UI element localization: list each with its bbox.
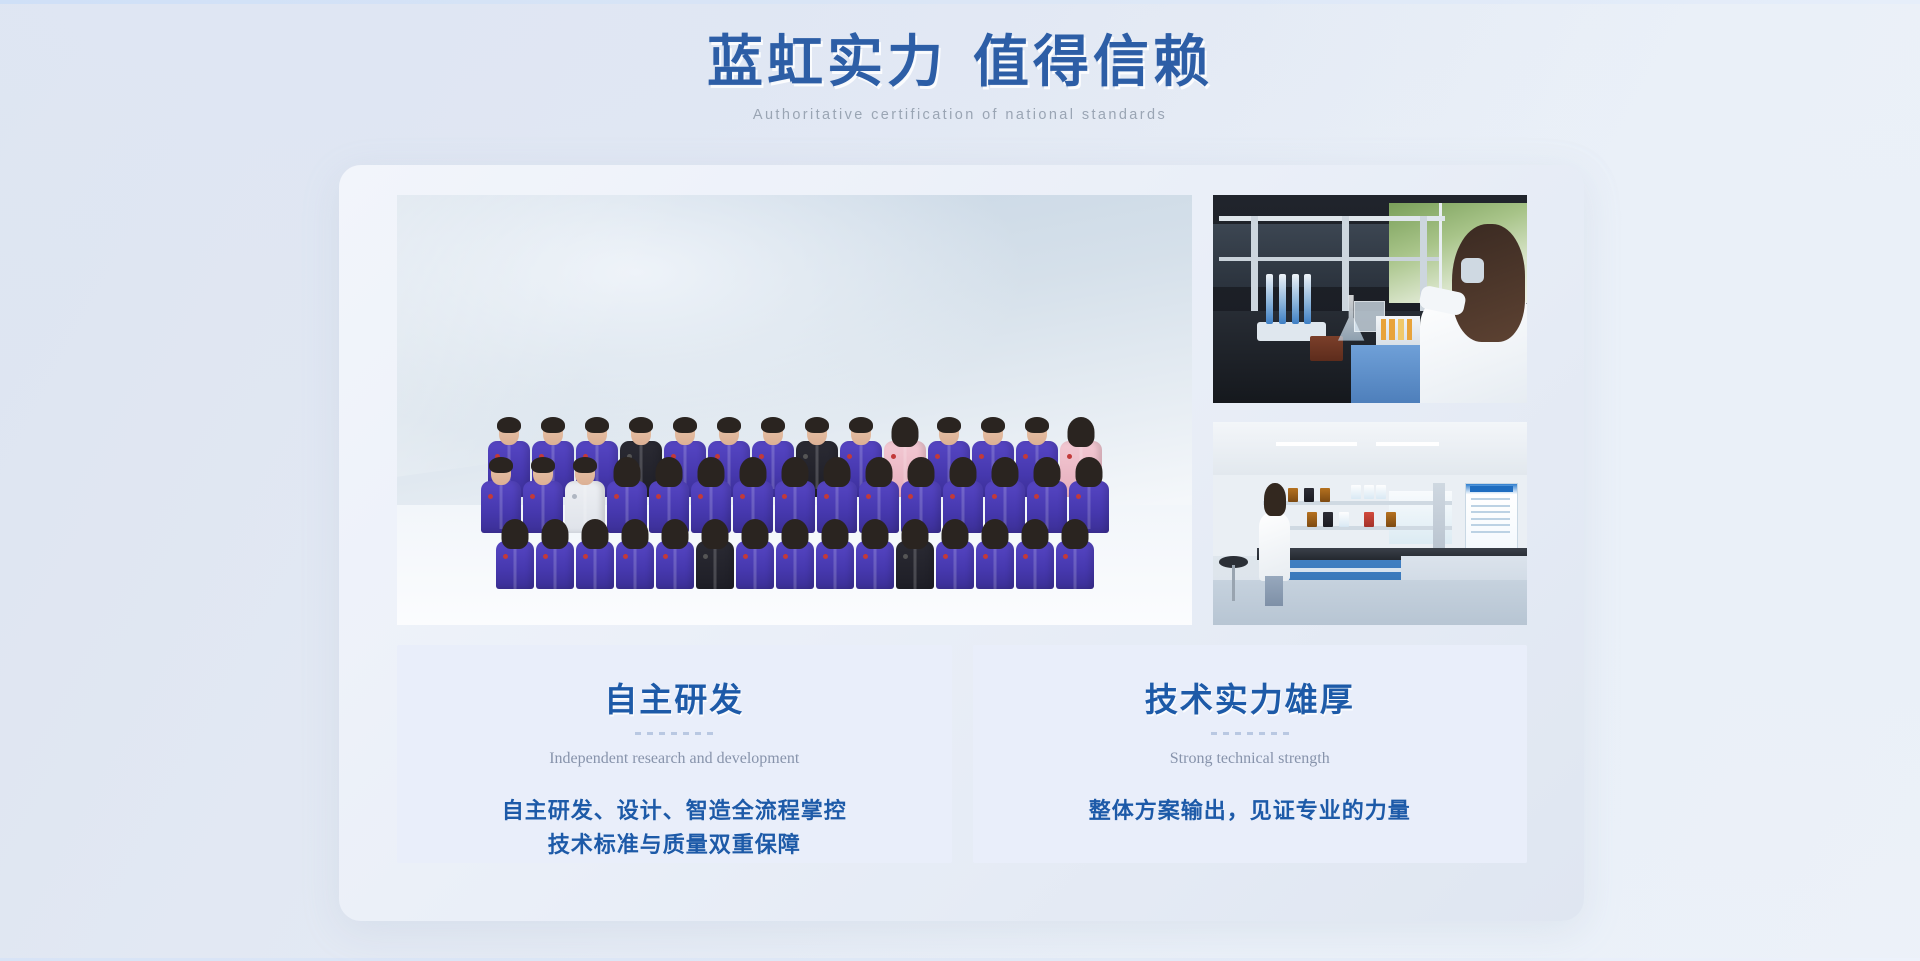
feature-card-tech-english: Strong technical strength — [1170, 750, 1330, 768]
lab-room-photo[interactable] — [1213, 422, 1527, 625]
lab-technician-figure — [1401, 224, 1527, 403]
content-panel: 自主研发 Independent research and developmen… — [339, 165, 1584, 921]
dotted-divider-icon — [1211, 732, 1289, 735]
feature-card-tech-description: 整体方案输出，见证专业的力量 — [1089, 794, 1411, 828]
feature-cards: 自主研发 Independent research and developmen… — [397, 645, 1527, 863]
lab-pipette-image — [1213, 195, 1527, 403]
top-accent-strip — [0, 0, 1920, 4]
feature-card-rnd-description: 自主研发、设计、智造全流程掌控 技术标准与质量双重保障 — [502, 794, 847, 862]
dotted-divider-icon — [635, 732, 713, 735]
page-heading: 蓝虹实力值得信赖 Authoritative certification of … — [0, 28, 1920, 123]
photo-gallery — [397, 195, 1527, 625]
lab-scientist-figure — [1257, 483, 1295, 609]
page-root: 蓝虹实力值得信赖 Authoritative certification of … — [0, 0, 1920, 961]
page-subtitle: Authoritative certification of national … — [0, 107, 1920, 123]
page-title: 蓝虹实力值得信赖 — [0, 28, 1920, 98]
group-photo[interactable] — [397, 195, 1192, 625]
group-photo-row-front — [397, 523, 1192, 589]
feature-card-tech[interactable]: 技术实力雄厚 Strong technical strength 整体方案输出，… — [973, 645, 1528, 863]
feature-card-rnd-english: Independent research and development — [549, 750, 799, 768]
feature-card-rnd-desc-line1: 自主研发、设计、智造全流程掌控 — [502, 794, 847, 828]
lab-pipette-photo[interactable] — [1213, 195, 1527, 403]
feature-card-tech-title: 技术实力雄厚 — [1145, 673, 1355, 721]
feature-card-tech-desc-line1: 整体方案输出，见证专业的力量 — [1089, 794, 1411, 828]
lab-notice-poster — [1465, 483, 1517, 550]
group-photo-image — [397, 195, 1192, 625]
feature-card-rnd-title: 自主研发 — [604, 673, 744, 721]
feature-card-rnd[interactable]: 自主研发 Independent research and developmen… — [397, 645, 952, 863]
feature-card-rnd-desc-line2: 技术标准与质量双重保障 — [502, 828, 847, 862]
lab-room-image — [1213, 422, 1527, 625]
page-title-part2: 值得信赖 — [973, 32, 1213, 94]
page-title-part1: 蓝虹实力 — [707, 32, 947, 94]
